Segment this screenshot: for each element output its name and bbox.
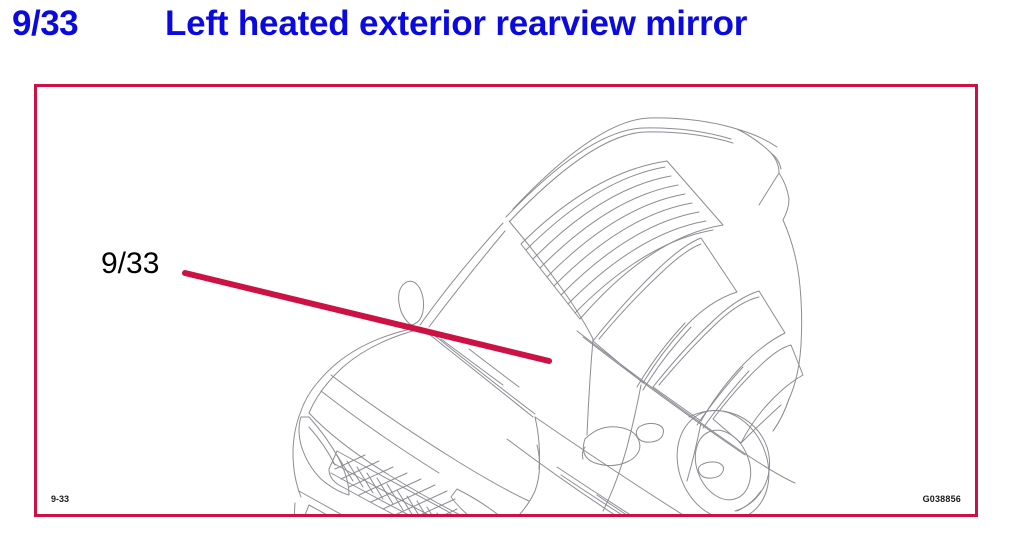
figure-code: G038856 — [923, 494, 961, 504]
callout-label: 9/33 — [101, 247, 159, 281]
callout-pointer-line — [185, 273, 549, 361]
footer-page-number: 9-33 — [51, 494, 69, 504]
section-number: 9/33 — [12, 4, 78, 44]
page-header: 9/33 Left heated exterior rearview mirro… — [0, 0, 1009, 56]
vehicle-line-art — [37, 87, 975, 514]
page-title: Left heated exterior rearview mirror — [165, 4, 747, 44]
manual-page: 9/33 Left heated exterior rearview mirro… — [0, 0, 1009, 536]
illustration-frame: 9/33 9-33 G038856 — [34, 84, 978, 517]
